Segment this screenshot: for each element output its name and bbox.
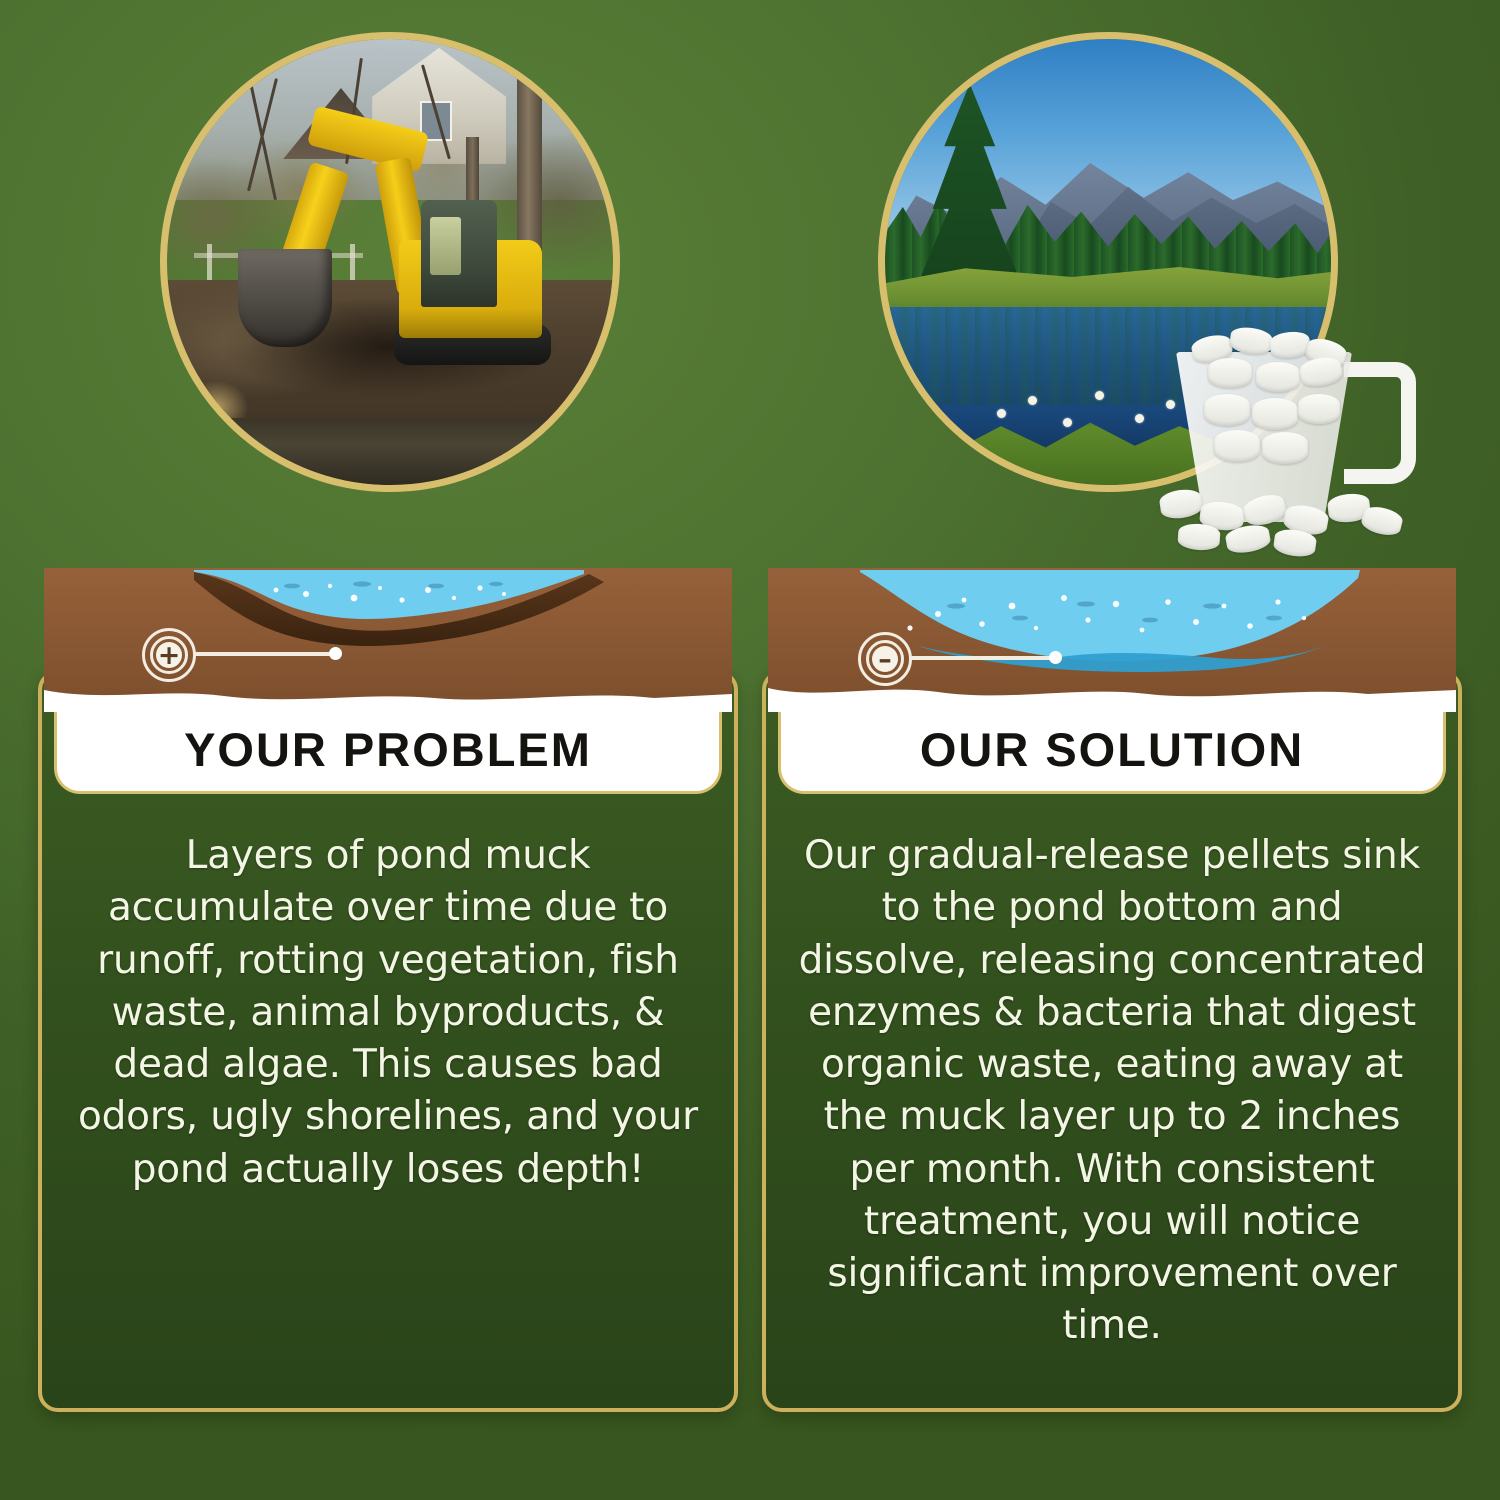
plus-badge: + [142, 628, 196, 682]
wildflower [1028, 396, 1037, 405]
leader-line [194, 652, 334, 656]
scoop-handle [1344, 362, 1416, 484]
wildflower [1095, 391, 1104, 400]
infographic-root: YOUR PROBLEM [0, 0, 1500, 1500]
leader-line [910, 656, 1054, 660]
photo-problem-clip [167, 39, 613, 485]
leader-dot [1049, 651, 1062, 664]
card-problem-title: YOUR PROBLEM [184, 722, 592, 777]
card-solution: OUR SOLUTION [762, 562, 1462, 1412]
pellet-tablet [1214, 430, 1260, 462]
pellet-tablet [1204, 394, 1250, 426]
pellet-tablet [1298, 394, 1340, 424]
minus-badge: – [858, 632, 912, 686]
pellet-tablet [1252, 398, 1298, 430]
excavator-window [430, 217, 461, 275]
card-solution-title: OUR SOLUTION [920, 722, 1304, 777]
pellet-tablet [1208, 358, 1252, 388]
pellet-tablet [1262, 432, 1308, 464]
plus-icon: + [158, 642, 181, 669]
pellet-tablet [1256, 362, 1300, 392]
excavator-scene [167, 39, 613, 485]
excavator-bucket [238, 249, 332, 347]
wildflower [1135, 414, 1144, 423]
card-problem: YOUR PROBLEM [38, 562, 738, 1412]
leader-dot [329, 647, 342, 660]
pellet-tablet-loose [1158, 487, 1203, 521]
pellet-scoop-product [1148, 318, 1448, 568]
pellet-tablet-loose [1359, 504, 1404, 539]
pond-water [167, 418, 613, 485]
pellet-tablet-loose [1177, 523, 1221, 552]
card-problem-body: Layers of pond muck accumulate over time… [72, 830, 704, 1196]
photo-problem-excavator [160, 32, 620, 492]
card-solution-body: Our gradual-release pellets sink to the … [796, 830, 1428, 1353]
minus-icon: – [878, 646, 892, 673]
wildflower [997, 409, 1006, 418]
